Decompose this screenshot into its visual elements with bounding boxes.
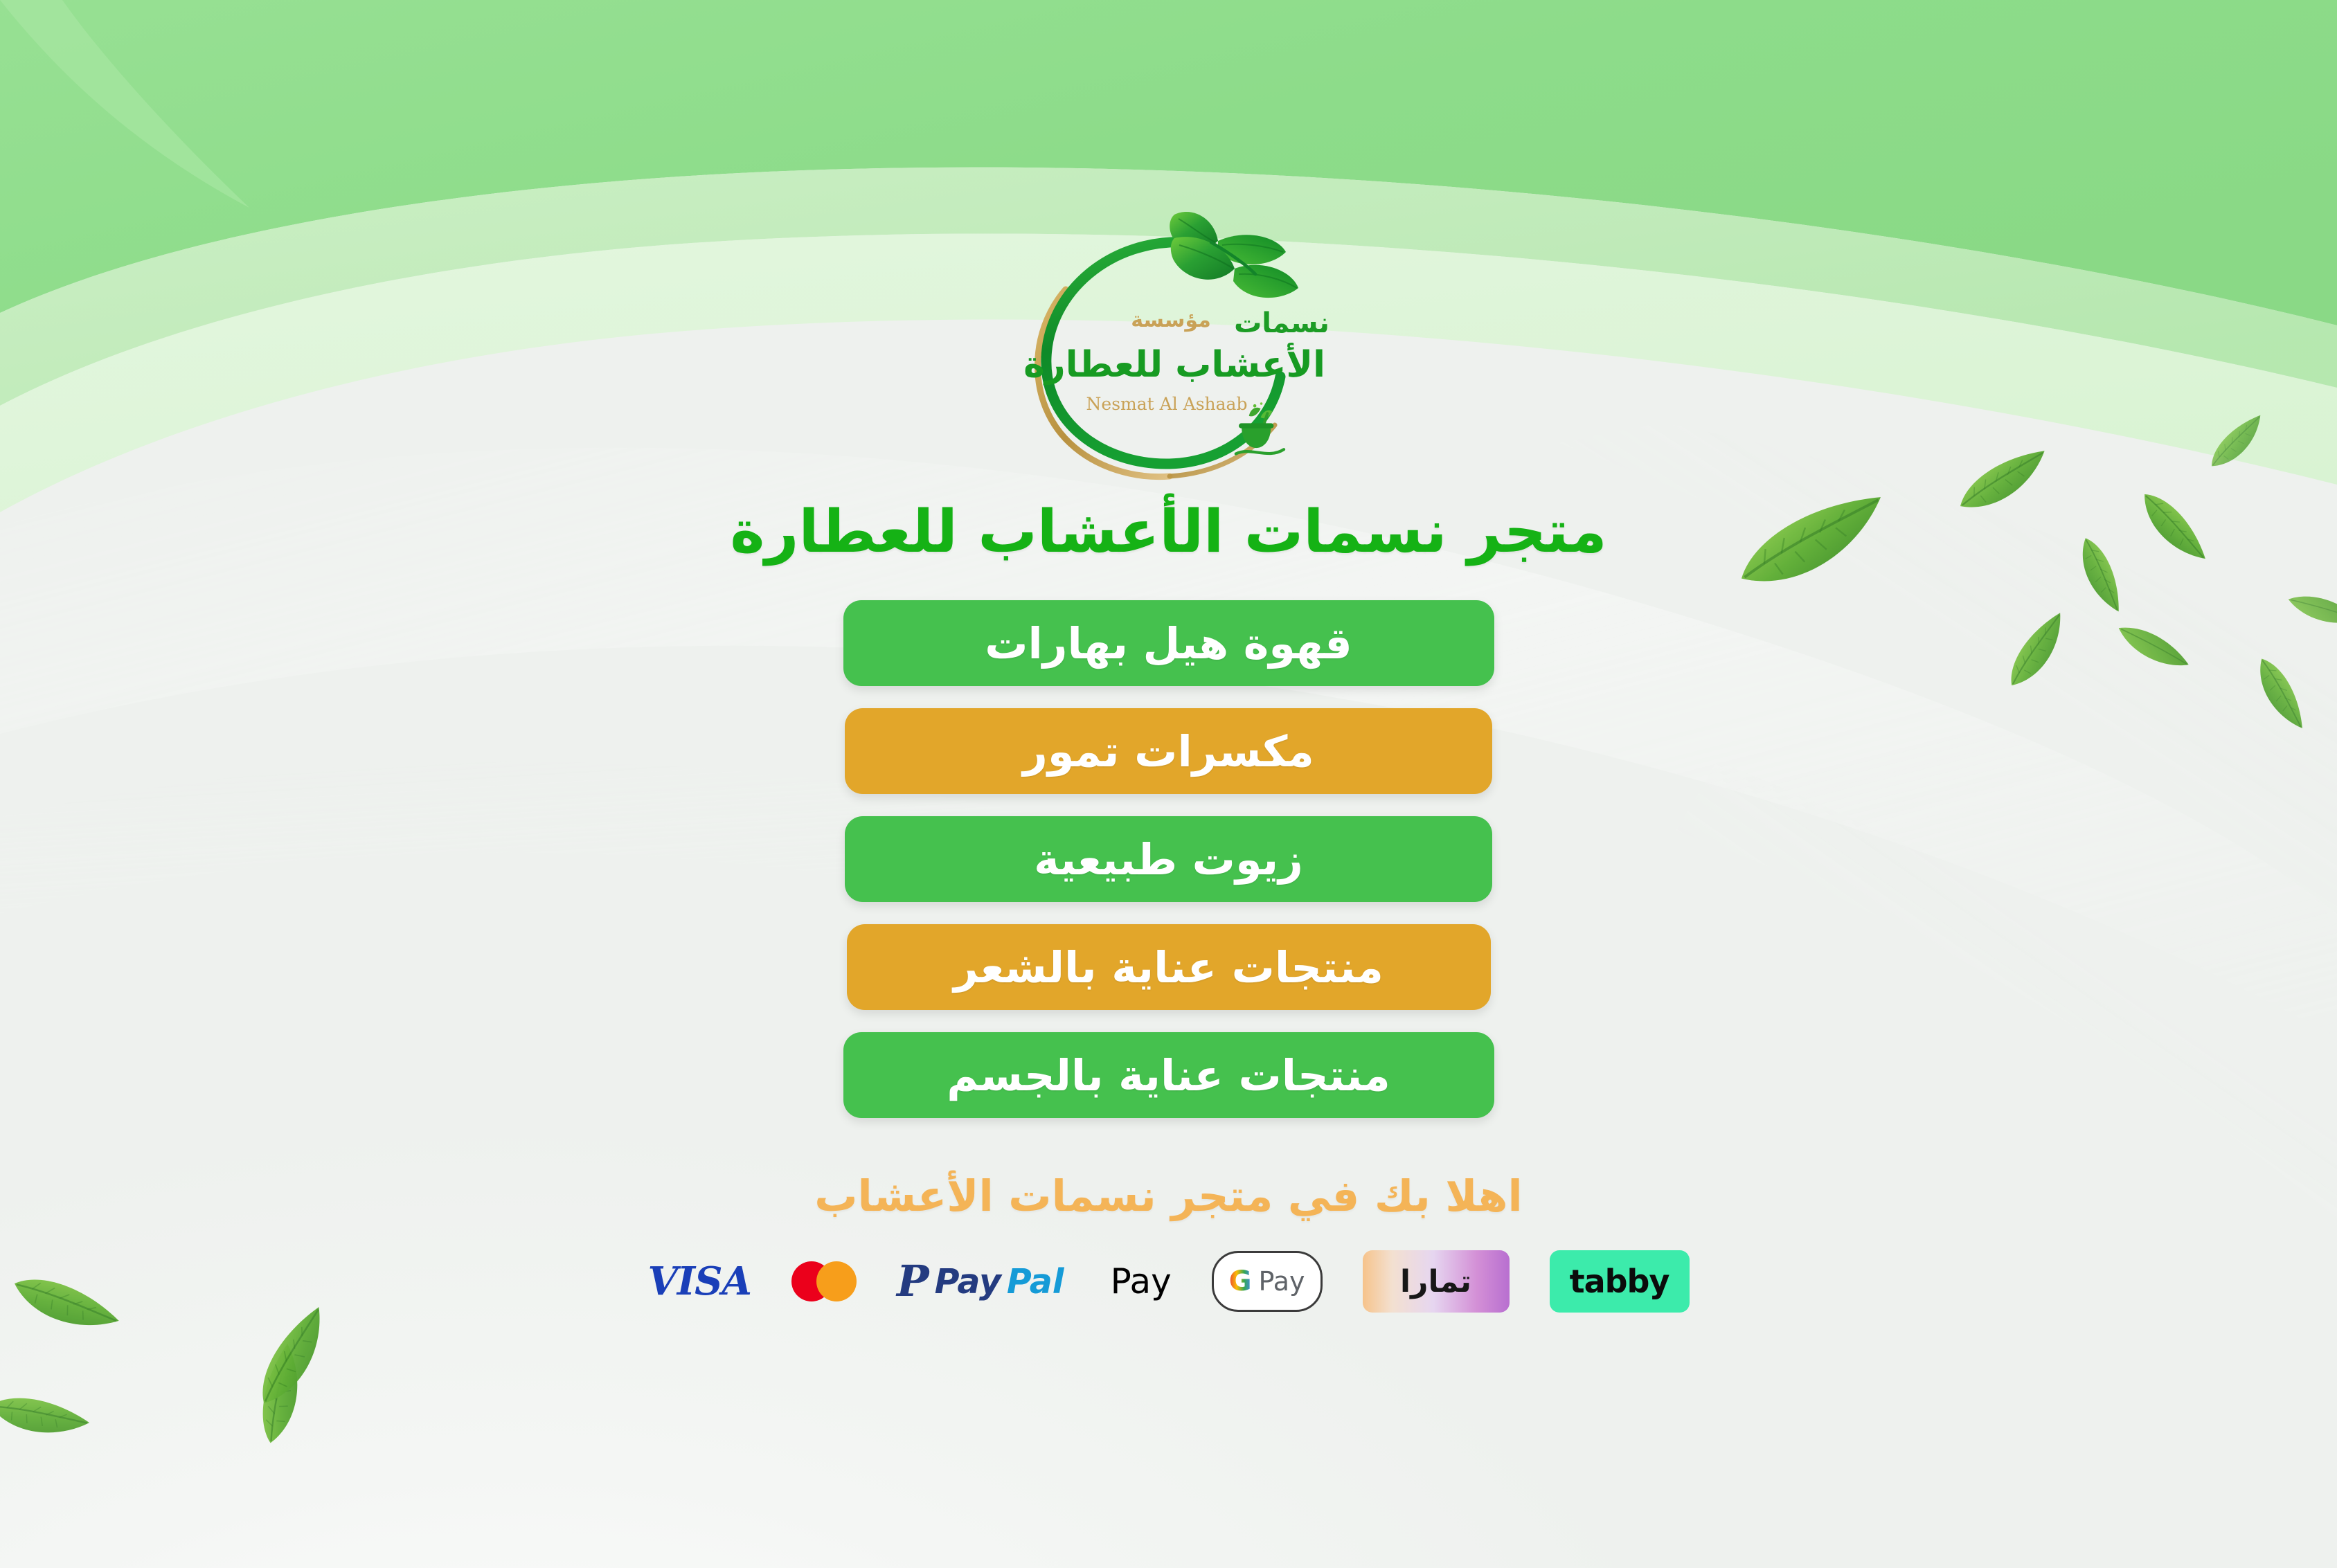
paypal-p-glyph: P bbox=[897, 1262, 929, 1301]
page-title: متجر نسمات الأعشاب للعطارة bbox=[730, 503, 1606, 561]
landing-page: مؤسسة نسمات الأعشاب للعطارة Nesmat Al As… bbox=[0, 0, 2337, 1568]
google-pay-icon[interactable]: G Pay bbox=[1212, 1251, 1323, 1312]
paypal-pay-text: Pay bbox=[935, 1262, 1001, 1301]
mastercard-icon[interactable] bbox=[791, 1257, 857, 1306]
main-content: مؤسسة نسمات الأعشاب للعطارة Nesmat Al As… bbox=[0, 0, 2337, 1313]
welcome-message: اهلا بك في متجر نسمات الأعشاب bbox=[814, 1171, 1523, 1221]
google-pay-text: Pay bbox=[1259, 1266, 1305, 1297]
category-button-nuts-dates[interactable]: مكسرات تمور bbox=[845, 708, 1492, 794]
logo-name-line2: الأعشاب للعطارة bbox=[1023, 342, 1325, 386]
tabby-text: tabby bbox=[1570, 1263, 1669, 1300]
logo-latin-text: Nesmat Al Ashaab bbox=[1086, 394, 1247, 414]
category-button-list: قهوة هيل بهارات مكسرات تمور زيوت طبيعية … bbox=[843, 600, 1494, 1118]
payment-methods-row: VISA P Pay Pal Pay G Pay تمارا bbox=[647, 1250, 1689, 1313]
tamara-icon[interactable]: تمارا bbox=[1363, 1250, 1510, 1313]
category-button-hair-care-products[interactable]: منتجات عناية بالشعر bbox=[847, 924, 1491, 1010]
category-button-body-care-products[interactable]: منتجات عناية بالجسم bbox=[843, 1032, 1494, 1118]
paypal-pal-text: Pal bbox=[1007, 1262, 1064, 1301]
logo-name-line1: نسمات bbox=[1234, 307, 1329, 339]
logo-prefix-text: مؤسسة bbox=[1131, 308, 1211, 332]
google-g-glyph: G bbox=[1229, 1268, 1252, 1295]
apple-pay-icon[interactable]: Pay bbox=[1104, 1257, 1172, 1306]
category-button-coffee-cardamom-spices[interactable]: قهوة هيل بهارات bbox=[843, 600, 1494, 686]
mastercard-yellow-circle bbox=[816, 1261, 857, 1301]
apple-pay-text: Pay bbox=[1111, 1261, 1172, 1301]
paypal-icon[interactable]: P Pay Pal bbox=[897, 1257, 1064, 1306]
visa-icon[interactable]: VISA bbox=[647, 1257, 751, 1306]
tabby-icon[interactable]: tabby bbox=[1550, 1250, 1690, 1313]
category-button-natural-oils[interactable]: زيوت طبيعية bbox=[845, 816, 1492, 902]
tamara-text: تمارا bbox=[1400, 1264, 1471, 1299]
brand-logo: مؤسسة نسمات الأعشاب للعطارة Nesmat Al As… bbox=[1006, 202, 1332, 493]
